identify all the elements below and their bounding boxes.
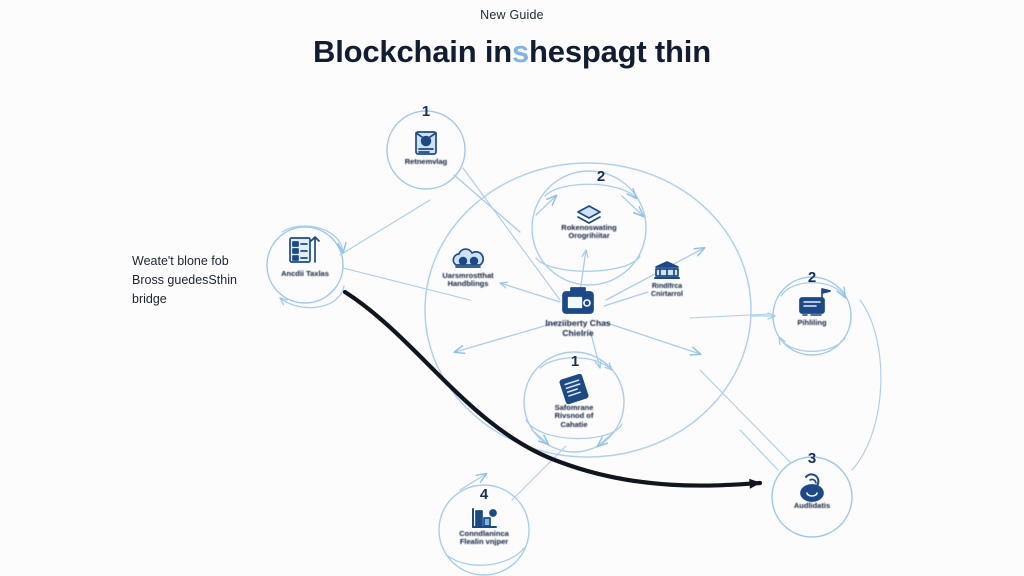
fingerprint-hand-icon <box>801 474 823 501</box>
node-circles <box>267 111 852 575</box>
receipt-ticket-icon <box>560 374 588 404</box>
cloud-nodes-icon <box>453 249 483 267</box>
connector-lines <box>280 168 881 565</box>
document-network-icon <box>416 132 436 154</box>
bank-building-icon <box>655 262 679 278</box>
layers-stack-icon <box>578 204 600 223</box>
wallet-briefcase-icon <box>563 288 593 313</box>
chart-growth-icon <box>473 509 496 527</box>
cross-chain-bridge-arrow <box>345 292 760 486</box>
diagram-canvas <box>0 0 1024 576</box>
terminal-flag-icon <box>800 289 830 315</box>
ledger-list-icon <box>290 237 319 262</box>
